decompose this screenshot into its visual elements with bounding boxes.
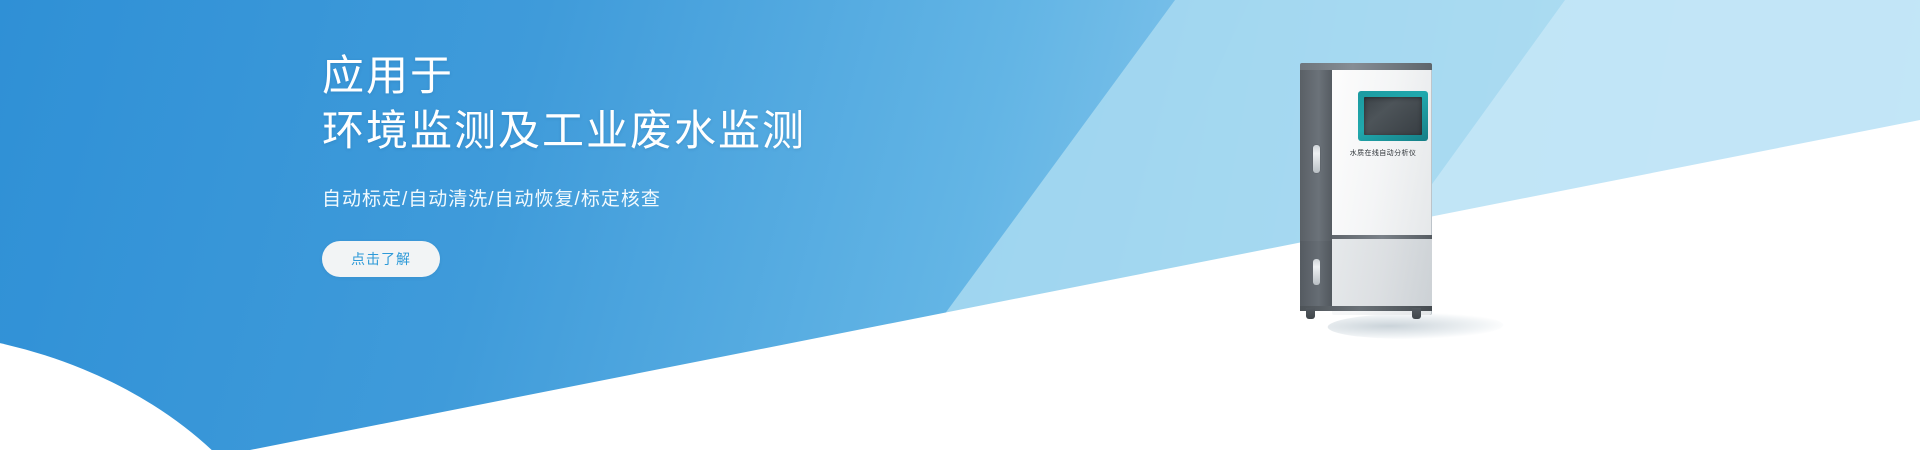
learn-more-button[interactable]: 点击了解 <box>322 241 440 277</box>
analyzer-lower-handle <box>1313 259 1320 285</box>
water-quality-analyzer-image: 水质在线自动分析仪 <box>1300 63 1440 321</box>
analyzer-foot-left <box>1306 308 1315 319</box>
analyzer-top-cap <box>1300 63 1432 70</box>
analyzer-upper-handle <box>1313 145 1320 173</box>
headline-line-1: 应用于 <box>322 48 1082 103</box>
analyzer-display-screen <box>1364 97 1422 135</box>
analyzer-foot-right <box>1412 308 1421 319</box>
analyzer-product-label: 水质在线自动分析仪 <box>1336 148 1430 158</box>
headline-line-2: 环境监测及工业废水监测 <box>322 103 1082 158</box>
hero-banner: 应用于 环境监测及工业废水监测 自动标定/自动清洗/自动恢复/标定核查 点击了解… <box>0 0 1920 450</box>
analyzer-lower-door <box>1332 239 1432 309</box>
banner-content: 应用于 环境监测及工业废水监测 自动标定/自动清洗/自动恢复/标定核查 点击了解 <box>322 48 1082 277</box>
banner-subtitle: 自动标定/自动清洗/自动恢复/标定核查 <box>322 184 1082 211</box>
